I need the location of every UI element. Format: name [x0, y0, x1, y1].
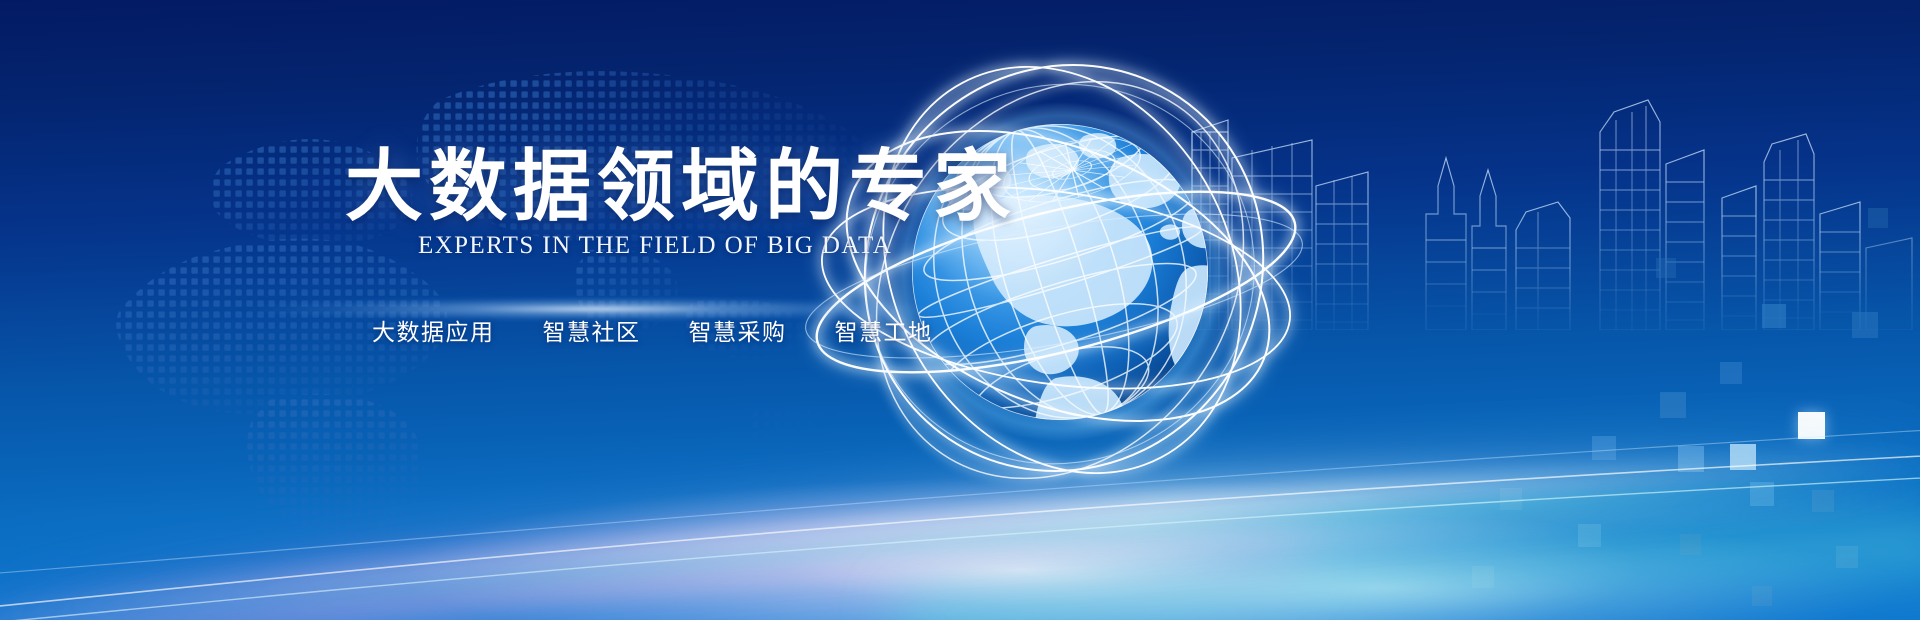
hero-banner: 大数据领域的专家 EXPERTS IN THE FIELD OF BIG DAT… [0, 0, 1920, 620]
keyword-item-0[interactable]: 大数据应用 [372, 313, 495, 347]
page-title: 大数据领域的专家 [345, 148, 1017, 226]
keyword-item-1[interactable]: 智慧社区 [543, 313, 641, 347]
page-subtitle: EXPERTS IN THE FIELD OF BIG DATA [418, 232, 892, 260]
keyword-item-3[interactable]: 智慧工地 [835, 313, 933, 347]
hero-copy: 大数据领域的专家 EXPERTS IN THE FIELD OF BIG DAT… [0, 0, 900, 620]
keyword-item-2[interactable]: 智慧采购 [689, 313, 787, 347]
mosaic-squares-icon [1360, 0, 1920, 620]
keyword-list: 大数据应用 智慧社区 智慧采购 智慧工地 [372, 313, 933, 347]
